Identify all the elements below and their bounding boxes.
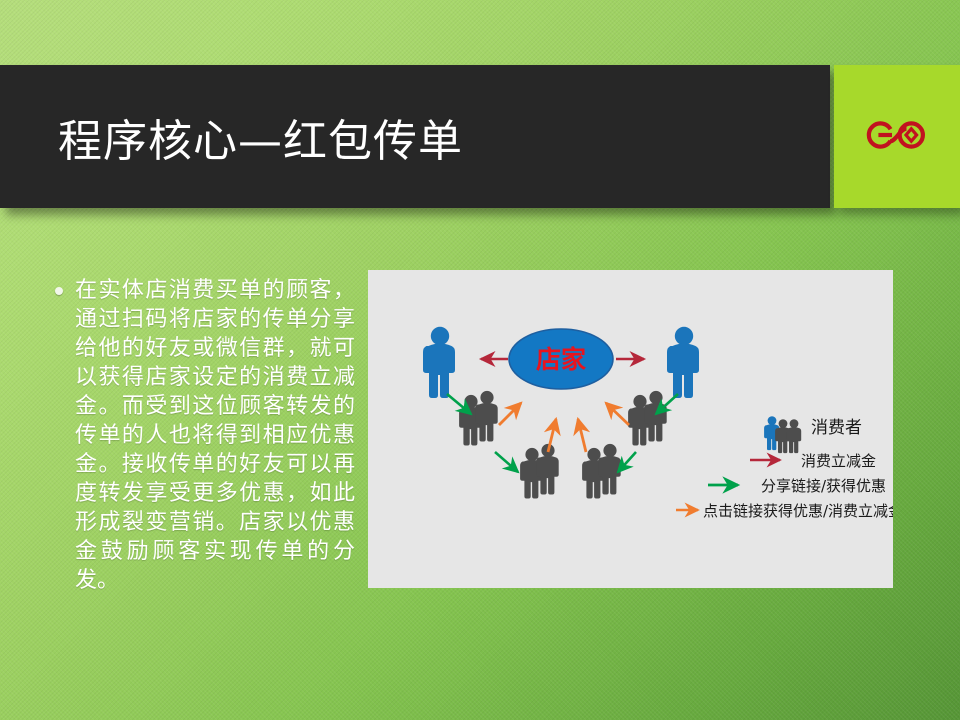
legend-label-consumer: 消费者 <box>811 418 862 438</box>
legend-label-red: 消费立减金 <box>801 452 876 470</box>
logo-box <box>834 65 960 208</box>
bullet-dot-icon <box>55 287 63 295</box>
legend-label-green: 分享链接/获得优惠 <box>761 477 886 495</box>
slide-canvas: 程序核心—红包传单 在实体店消费买单的顾客，通 <box>0 0 960 720</box>
body-bullet-block: 在实体店消费买单的顾客，通过扫码将店家的传单分享给他的好友或微信群，就可以获得店… <box>55 276 355 595</box>
flow-diagram-image: 店家 <box>368 270 893 588</box>
merchant-node-label: 店家 <box>536 345 586 374</box>
body-paragraph: 在实体店消费买单的顾客，通过扫码将店家的传单分享给他的好友或微信群，就可以获得店… <box>75 276 355 595</box>
merchant-node: 店家 <box>509 329 613 389</box>
legend-label-orange: 点击链接获得优惠/消费立减金 <box>703 502 893 520</box>
title-bar: 程序核心—红包传单 <box>0 65 830 208</box>
diagram-svg: 店家 <box>368 270 893 588</box>
legend-item-orange: 点击链接获得优惠/消费立减金 <box>676 502 893 520</box>
page-title: 程序核心—红包传单 <box>58 105 463 169</box>
infinity-diamond-logo-icon <box>866 115 928 159</box>
